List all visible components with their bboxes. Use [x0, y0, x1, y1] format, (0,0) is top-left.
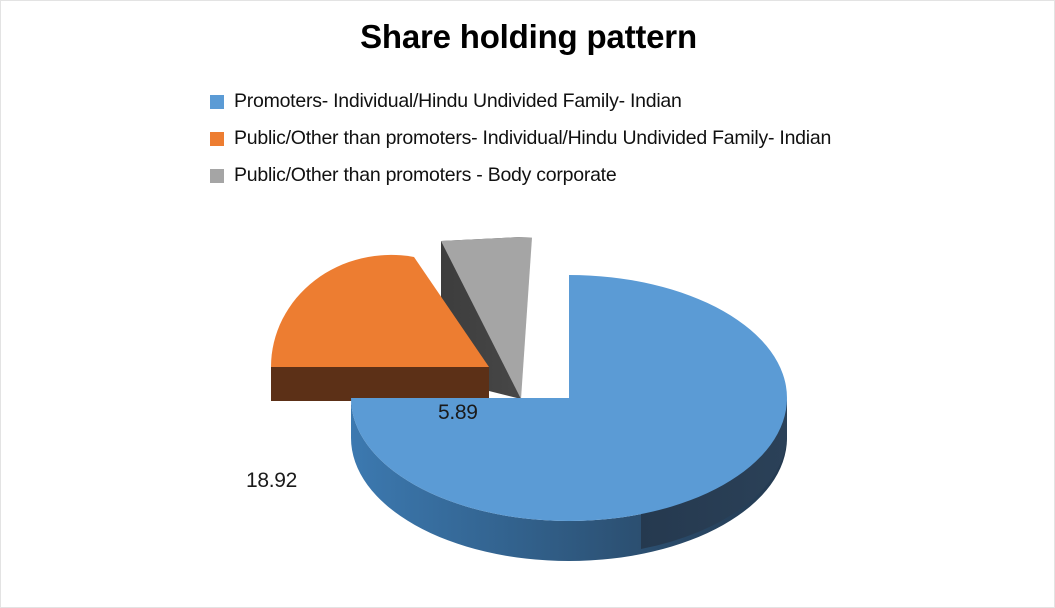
- chart-title: Share holding pattern: [1, 18, 1055, 56]
- legend-item-promoters-individual-huf[interactable]: Promoters- Individual/Hindu Undivided Fa…: [210, 83, 990, 120]
- legend-swatch-icon-series-1: [210, 95, 224, 109]
- legend-label-series-2: Public/Other than promoters- Individual/…: [234, 127, 831, 150]
- pie-data-label-body-corporate: 5.89: [438, 401, 478, 425]
- legend-swatch-icon-series-3: [210, 169, 224, 183]
- chart-legend: Promoters- Individual/Hindu Undivided Fa…: [210, 83, 990, 194]
- legend-item-public-body-corporate[interactable]: Public/Other than promoters - Body corpo…: [210, 157, 990, 194]
- legend-label-series-3: Public/Other than promoters - Body corpo…: [234, 164, 616, 187]
- legend-label-series-1: Promoters- Individual/Hindu Undivided Fa…: [234, 90, 682, 113]
- chart-canvas: Share holding pattern Promoters- Individ…: [0, 0, 1055, 608]
- pie-slice-orange-side: [271, 367, 489, 401]
- legend-item-public-individual-huf[interactable]: Public/Other than promoters- Individual/…: [210, 120, 990, 157]
- pie-plot-area: 75.19 18.92 5.89: [1, 191, 1055, 591]
- pie-data-label-public-individual: 18.92: [246, 469, 297, 493]
- legend-swatch-icon-series-2: [210, 132, 224, 146]
- pie-chart-svg: [1, 191, 1055, 591]
